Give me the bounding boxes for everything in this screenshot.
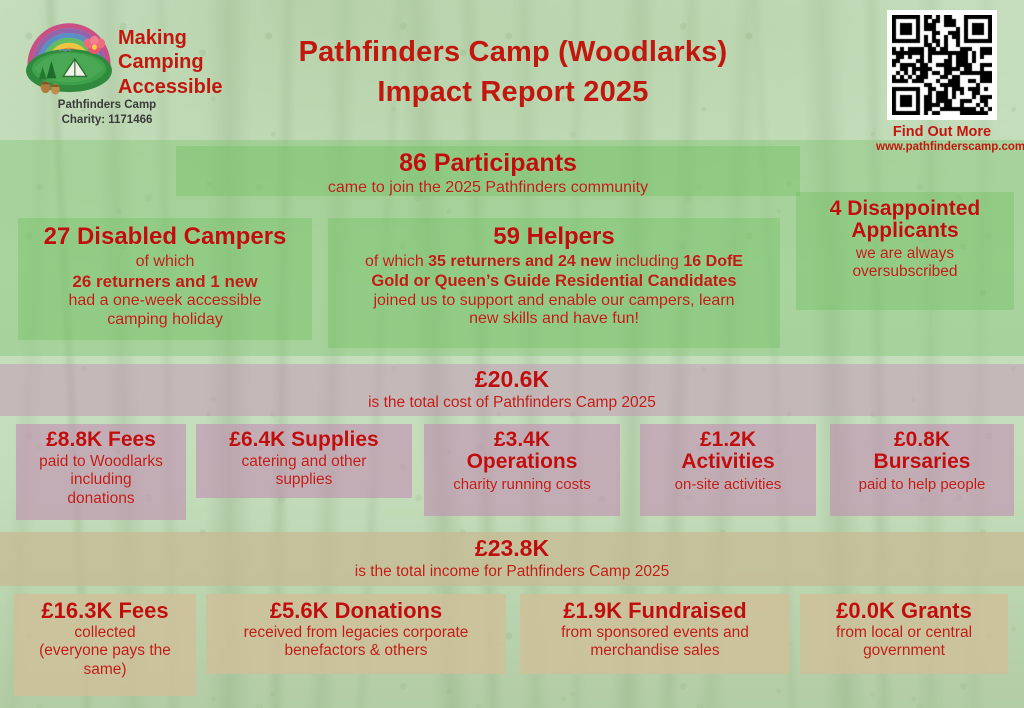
- applicants-headline-line2: Applicants: [796, 220, 1014, 242]
- cost-operations-label: Operations: [424, 451, 620, 473]
- cost-total-caption: is the total cost of Pathfinders Camp 20…: [0, 394, 1024, 412]
- income-fees-desc-2: (everyone pays the: [14, 642, 196, 660]
- helpers-card: 59 Helpers of which 35 returners and 24 …: [328, 218, 780, 348]
- income-total-caption: is the total income for Pathfinders Camp…: [0, 563, 1024, 581]
- cost-card-fees: £8.8K Fees paid to Woodlarks including d…: [16, 424, 186, 520]
- logo-tagline: Making Camping Accessible: [118, 26, 218, 99]
- qr-code-icon[interactable]: [887, 10, 997, 120]
- pathfinders-camp-logo-icon: [20, 12, 118, 96]
- cost-card-supplies: £6.4K Supplies catering and other suppli…: [196, 424, 412, 498]
- cost-total-banner: £20.6K is the total cost of Pathfinders …: [0, 362, 1024, 414]
- cost-bursaries-label: Bursaries: [830, 451, 1014, 473]
- helpers-line1-c: including: [611, 253, 683, 270]
- cost-fees-desc-3: donations: [16, 490, 186, 508]
- cost-fees-amount: £8.8K Fees: [16, 429, 186, 451]
- income-fees-amount: £16.3K Fees: [14, 599, 196, 622]
- disabled-campers-headline: 27 Disabled Campers: [18, 224, 312, 249]
- cost-operations-amount: £3.4K: [424, 429, 620, 451]
- cost-activities-label: Activities: [640, 451, 816, 473]
- cost-bursaries-desc-1: paid to help people: [830, 476, 1014, 494]
- income-total-banner: £23.8K is the total income for Pathfinde…: [0, 530, 1024, 584]
- applicants-line1: we are always: [796, 245, 1014, 263]
- income-fundraised-desc-2: merchandise sales: [520, 642, 790, 660]
- participants-subtext: came to join the 2025 Pathfinders commun…: [176, 179, 800, 198]
- applicants-headline-line1: 4 Disappointed: [796, 198, 1014, 220]
- cost-bursaries-amount: £0.8K: [830, 429, 1014, 451]
- charity-number: Charity: 1171466: [14, 113, 200, 128]
- helpers-headline: 59 Helpers: [328, 224, 780, 249]
- page-title-line1: Pathfinders Camp (Woodlarks): [230, 32, 796, 72]
- income-fundraised-amount: £1.9K Fundraised: [520, 599, 790, 622]
- cost-card-bursaries: £0.8K Bursaries paid to help people: [830, 424, 1014, 516]
- cost-activities-desc-1: on-site activities: [640, 476, 816, 494]
- helpers-line2: Gold or Queen’s Guide Residential Candid…: [328, 272, 780, 291]
- helpers-line1-a: of which: [365, 253, 428, 270]
- disabled-campers-line2: 26 returners and 1 new: [18, 272, 312, 292]
- participants-headline: 86 Participants: [176, 150, 800, 176]
- participants-banner: 86 Participants came to join the 2025 Pa…: [176, 146, 800, 196]
- cost-supplies-desc-2: supplies: [196, 471, 412, 489]
- disabled-campers-line1: of which: [18, 253, 312, 272]
- applicants-line2: oversubscribed: [796, 263, 1014, 281]
- income-fees-desc-1: collected: [14, 624, 196, 642]
- qr-block: Find Out More www.pathfinderscamp.com: [876, 10, 1008, 153]
- charity-registration: Pathfinders Camp Charity: 1171466: [14, 98, 200, 128]
- disabled-campers-line4: camping holiday: [18, 311, 312, 330]
- helpers-line1-b: 35 returners and 24 new: [428, 253, 611, 270]
- cost-card-activities: £1.2K Activities on-site activities: [640, 424, 816, 516]
- income-total-amount: £23.8K: [0, 536, 1024, 560]
- logo-block: Making Camping Accessible Pathfinders Ca…: [14, 12, 214, 128]
- impact-report-poster: Making Camping Accessible Pathfinders Ca…: [0, 0, 1024, 708]
- page-title-line2: Impact Report 2025: [230, 72, 796, 112]
- disappointed-applicants-card: 4 Disappointed Applicants we are always …: [796, 192, 1014, 310]
- cost-supplies-desc-1: catering and other: [196, 453, 412, 471]
- helpers-line4: new skills and have fun!: [328, 310, 780, 329]
- income-card-fees: £16.3K Fees collected (everyone pays the…: [14, 594, 196, 696]
- cost-card-operations: £3.4K Operations charity running costs: [424, 424, 620, 516]
- cost-supplies-amount: £6.4K Supplies: [196, 429, 412, 451]
- cost-activities-amount: £1.2K: [640, 429, 816, 451]
- helpers-line1-d: 16 DofE: [683, 253, 743, 270]
- income-card-donations: £5.6K Donations received from legacies c…: [206, 594, 506, 674]
- disabled-campers-line3: had a one-week accessible: [18, 292, 312, 311]
- cost-fees-desc-1: paid to Woodlarks: [16, 453, 186, 471]
- income-donations-desc-2: benefactors & others: [206, 642, 506, 660]
- income-grants-amount: £0.0K Grants: [800, 599, 1008, 622]
- income-card-fundraised: £1.9K Fundraised from sponsored events a…: [520, 594, 790, 674]
- page-title: Pathfinders Camp (Woodlarks) Impact Repo…: [230, 32, 796, 112]
- cost-operations-desc-1: charity running costs: [424, 476, 620, 494]
- income-donations-desc-1: received from legacies corporate: [206, 624, 506, 642]
- income-fees-desc-3: same): [14, 661, 196, 679]
- income-grants-desc-1: from local or central: [800, 624, 1008, 642]
- disabled-campers-card: 27 Disabled Campers of which 26 returner…: [18, 218, 312, 340]
- income-donations-amount: £5.6K Donations: [206, 599, 506, 622]
- helpers-line3: joined us to support and enable our camp…: [328, 292, 780, 311]
- find-out-more-label: Find Out More: [876, 124, 1008, 140]
- income-fundraised-desc-1: from sponsored events and: [520, 624, 790, 642]
- helpers-line1: of which 35 returners and 24 new includi…: [328, 253, 780, 272]
- charity-name: Pathfinders Camp: [14, 98, 200, 113]
- website-url[interactable]: www.pathfinderscamp.com: [876, 141, 1008, 153]
- cost-fees-desc-2: including: [16, 471, 186, 489]
- cost-total-amount: £20.6K: [0, 367, 1024, 391]
- income-card-grants: £0.0K Grants from local or central gover…: [800, 594, 1008, 674]
- income-grants-desc-2: government: [800, 642, 1008, 660]
